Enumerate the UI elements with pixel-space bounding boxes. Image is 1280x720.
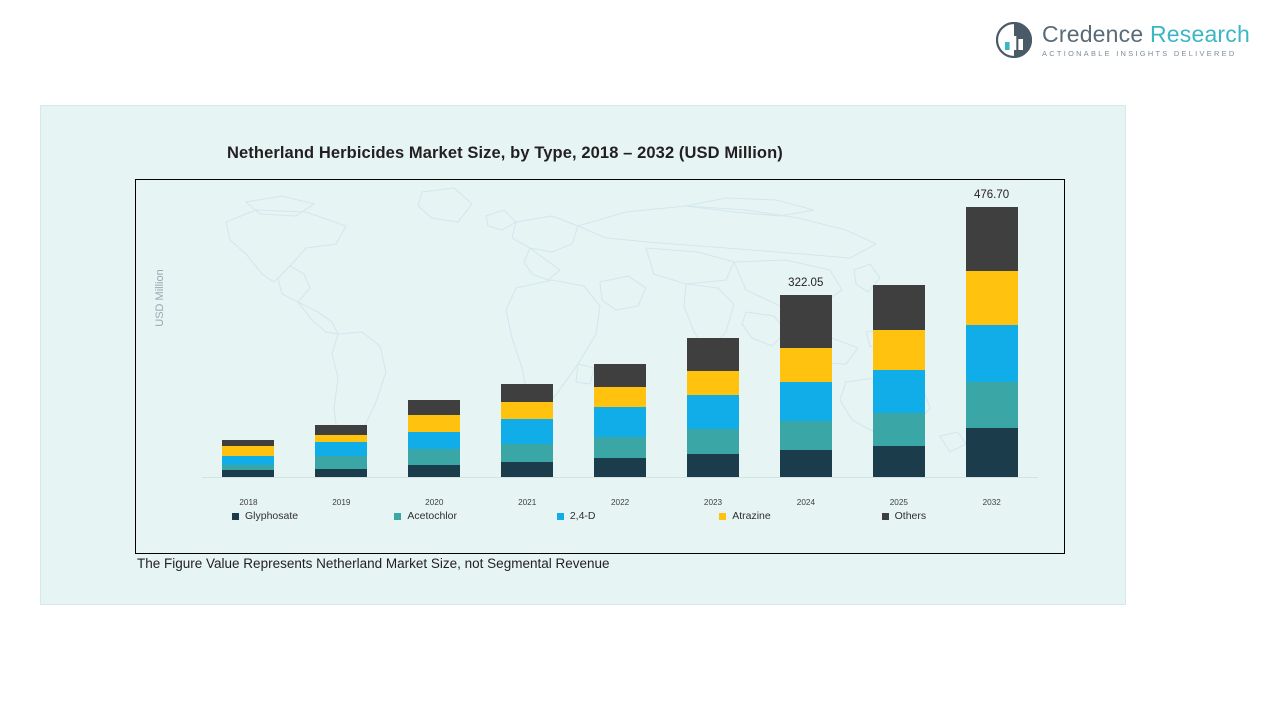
bar-segment-glyphosate[interactable] [501,462,553,477]
bar-segment-2-4-d[interactable] [966,325,1018,383]
bar-segment-atrazine[interactable] [315,435,367,442]
chart-frame: USD Million 322.05476.70 GlyphosateAceto… [135,179,1065,554]
bar-segment-glyphosate[interactable] [315,469,367,477]
bar-segment-others[interactable] [873,285,925,330]
bar-segment-acetochlor[interactable] [780,421,832,450]
bar-group-2022[interactable] [574,364,667,477]
bar-segment-glyphosate[interactable] [780,450,832,477]
axis-baseline [202,477,1038,478]
bar-segment-glyphosate[interactable] [222,470,274,477]
bar-value-label-2032: 476.70 [947,189,1037,201]
bar-segment-2-4-d[interactable] [687,395,739,429]
brand-header: Credence Research Actionable Insights De… [996,22,1250,58]
bar-segment-acetochlor[interactable] [873,413,925,446]
bar-stack [594,364,646,477]
bar-stack [780,295,832,477]
bar-group-2020[interactable] [388,400,481,478]
bar-group-2032[interactable]: 476.70 [945,207,1038,477]
chart-panel: Netherland Herbicides Market Size, by Ty… [40,105,1126,605]
bar-stack [408,400,460,478]
bar-segment-2-4-d[interactable] [222,456,274,465]
legend-swatch-icon [719,513,726,520]
legend-item-2-4-d[interactable]: 2,4-D [557,510,719,522]
legend-label: Glyphosate [245,510,298,522]
brand-text: Credence Research Actionable Insights De… [1042,23,1250,57]
bar-segment-atrazine[interactable] [501,402,553,418]
bar-segment-atrazine[interactable] [873,330,925,370]
brand-tagline: Actionable Insights Delivered [1042,50,1250,57]
bar-segment-atrazine[interactable] [594,387,646,407]
plot-area: 322.05476.70 [202,194,1038,477]
x-axis-label-2021: 2021 [482,498,572,507]
bar-segment-atrazine[interactable] [687,371,739,395]
bar-stack [315,425,367,477]
legend-item-glyphosate[interactable]: Glyphosate [202,510,394,522]
bar-group-2023[interactable] [666,338,759,477]
bar-stack [222,440,274,477]
y-axis-title: USD Million [154,243,166,353]
bar-segment-2-4-d[interactable] [315,442,367,456]
legend-label: 2,4-D [570,510,596,522]
bar-segment-others[interactable] [687,338,739,370]
legend-item-atrazine[interactable]: Atrazine [719,510,881,522]
bar-segment-acetochlor[interactable] [315,456,367,469]
x-axis-label-2019: 2019 [296,498,386,507]
legend-label: Atrazine [732,510,771,522]
legend-swatch-icon [882,513,889,520]
bar-segment-acetochlor[interactable] [594,437,646,459]
brand-name: Credence Research [1042,23,1250,46]
footnote: The Figure Value Represents Netherland M… [137,556,610,571]
bar-segment-2-4-d[interactable] [780,382,832,421]
bar-segment-2-4-d[interactable] [501,419,553,444]
bar-segment-glyphosate[interactable] [687,454,739,477]
bar-segment-atrazine[interactable] [408,415,460,432]
legend-item-acetochlor[interactable]: Acetochlor [394,510,556,522]
page-title: Netherland Herbicides Market Size, by Ty… [227,144,783,163]
brand-name-secondary: Research [1150,21,1250,47]
bar-segment-2-4-d[interactable] [594,407,646,436]
bar-segment-glyphosate[interactable] [408,465,460,477]
bar-group-2024[interactable]: 322.05 [759,295,852,477]
x-axis-label-2022: 2022 [575,498,665,507]
bar-group-2025[interactable] [852,285,945,477]
legend-item-others[interactable]: Others [882,510,1044,522]
bar-segment-others[interactable] [780,295,832,348]
bar-segment-others[interactable] [966,207,1018,271]
bar-segment-others[interactable] [315,425,367,435]
bar-segment-atrazine[interactable] [780,348,832,382]
bar-segment-others[interactable] [408,400,460,416]
x-axis-label-2018: 2018 [203,498,293,507]
bar-stack [873,285,925,477]
bar-segment-others[interactable] [501,384,553,403]
bar-segment-acetochlor[interactable] [966,382,1018,428]
legend-swatch-icon [394,513,401,520]
legend-swatch-icon [557,513,564,520]
bar-group-2021[interactable] [481,384,574,477]
bar-segment-glyphosate[interactable] [966,428,1018,477]
bar-chart-circle-icon [996,22,1032,58]
bar-value-label-2024: 322.05 [761,277,851,289]
bar-segment-acetochlor[interactable] [687,429,739,454]
chart-legend: GlyphosateAcetochlor2,4-DAtrazineOthers [202,510,1044,522]
legend-label: Acetochlor [407,510,457,522]
bar-stack [966,207,1018,477]
bar-segment-acetochlor[interactable] [501,444,553,462]
bar-group-2019[interactable] [295,425,388,477]
bar-segment-glyphosate[interactable] [873,446,925,477]
bar-segment-glyphosate[interactable] [594,458,646,477]
bar-segment-atrazine[interactable] [222,446,274,456]
bar-stack [501,384,553,477]
x-axis-label-2024: 2024 [761,498,851,507]
bar-segment-2-4-d[interactable] [873,370,925,413]
x-axis-label-2020: 2020 [389,498,479,507]
bar-segment-atrazine[interactable] [966,271,1018,325]
x-axis-label-2023: 2023 [668,498,758,507]
x-axis-label-2025: 2025 [854,498,944,507]
bar-segment-2-4-d[interactable] [408,432,460,449]
bar-group-2018[interactable] [202,440,295,477]
x-axis-label-2032: 2032 [947,498,1037,507]
bar-segment-others[interactable] [594,364,646,387]
brand-name-primary: Credence [1042,21,1143,47]
bar-segment-acetochlor[interactable] [408,449,460,464]
legend-swatch-icon [232,513,239,520]
legend-label: Others [895,510,927,522]
bar-stack [687,338,739,477]
